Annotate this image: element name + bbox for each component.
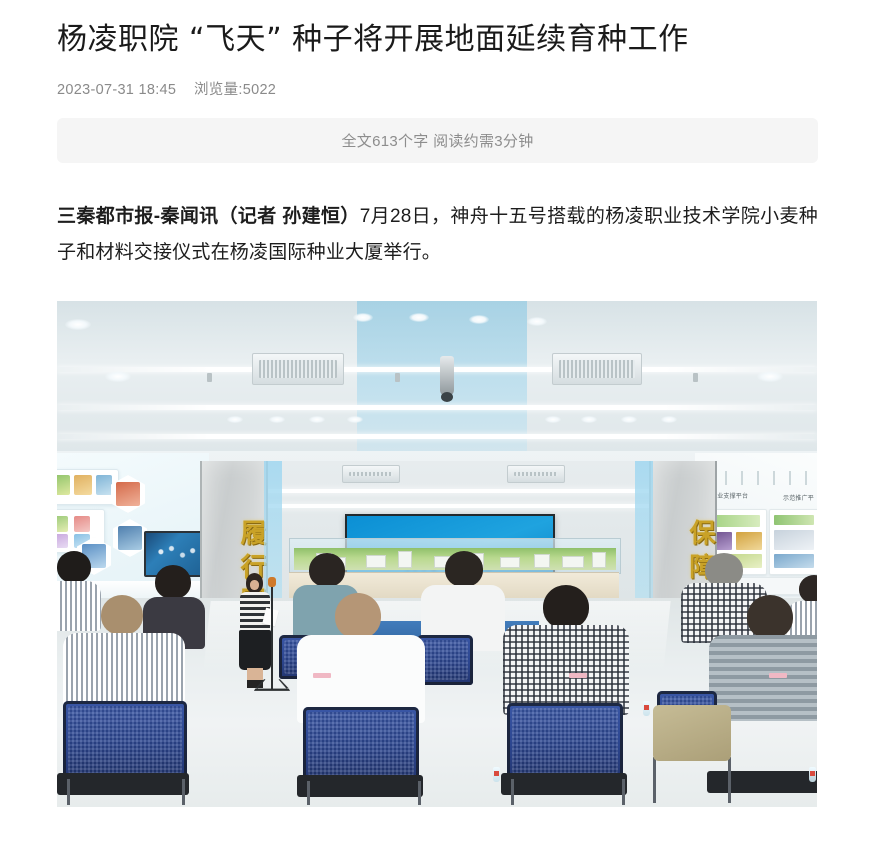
photo-scene: 台 产业支撑平台 示范推广平 <box>57 301 817 807</box>
air-conditioner-vent <box>552 353 642 385</box>
ceiling-light-band <box>57 405 817 410</box>
air-conditioner-vent <box>342 465 400 483</box>
ceiling-downlight <box>581 416 597 423</box>
ceiling <box>57 301 817 451</box>
ceiling-downlight <box>757 371 783 382</box>
ceiling-downlight <box>661 416 677 423</box>
reading-summary-bar: 全文613个字 阅读约需3分钟 <box>57 118 818 163</box>
ceiling-downlight <box>353 313 373 322</box>
article-byline: 三秦都市报-秦闻讯（记者 孙建恒） <box>57 206 360 227</box>
article-page: 杨凌职院 “飞天” 种子将开展地面延续育种工作 2023-07-31 18:45… <box>0 0 875 854</box>
publish-datetime: 2023-07-31 18:45 <box>57 82 176 98</box>
ceiling-downlight <box>65 319 91 330</box>
chair-legs <box>511 779 625 805</box>
sprinkler-icon <box>693 373 698 382</box>
projector-icon <box>440 356 454 396</box>
chair-legs <box>307 781 421 805</box>
ceiling-downlight <box>347 416 363 423</box>
sprinkler-icon <box>207 373 212 382</box>
page-title: 杨凌职院 “飞天” 种子将开展地面延续育种工作 <box>57 0 818 62</box>
reading-summary-text: 全文613个字 阅读约需3分钟 <box>341 130 533 151</box>
chair-legs <box>653 757 731 803</box>
sprinkler-icon <box>395 373 400 382</box>
water-bottle <box>493 767 500 782</box>
air-conditioner-vent <box>252 353 344 385</box>
water-bottle <box>809 767 816 782</box>
chair-legs <box>67 779 185 805</box>
article-meta: 2023-07-31 18:45 浏览量:5022 <box>57 80 818 100</box>
ceiling-downlight <box>621 416 637 423</box>
ceiling-light-band <box>57 434 817 439</box>
chair <box>417 635 473 685</box>
view-count: 浏览量:5022 <box>194 82 276 98</box>
ceiling-downlight <box>105 371 131 382</box>
ceiling-downlight <box>527 317 547 326</box>
article-container: 杨凌职院 “飞天” 种子将开展地面延续育种工作 2023-07-31 18:45… <box>0 0 875 807</box>
exhibit-label: 示范推广平 <box>783 493 814 502</box>
audience <box>57 551 817 807</box>
chair-nametag <box>769 673 787 678</box>
chair-nametag <box>569 673 587 678</box>
chair <box>507 703 623 779</box>
ceiling-downlight <box>469 315 489 324</box>
ceiling-light-band <box>57 367 817 372</box>
chair <box>63 701 187 779</box>
ceiling-downlight <box>309 416 325 423</box>
ceiling-downlight <box>409 313 429 322</box>
chair-nametag <box>313 673 331 678</box>
ceiling-downlight <box>269 416 285 423</box>
chair <box>303 707 419 781</box>
ceiling-downlight <box>545 416 561 423</box>
article-photo: 台 产业支撑平台 示范推广平 <box>57 301 817 807</box>
exhibit-panel <box>57 469 119 505</box>
article-body-paragraph: 三秦都市报-秦闻讯（记者 孙建恒）7月28日，神舟十五号搭载的杨凌职业技术学院小… <box>57 199 818 271</box>
air-conditioner-vent <box>507 465 565 483</box>
water-bottle <box>643 701 650 716</box>
ceiling-downlight <box>227 416 243 423</box>
